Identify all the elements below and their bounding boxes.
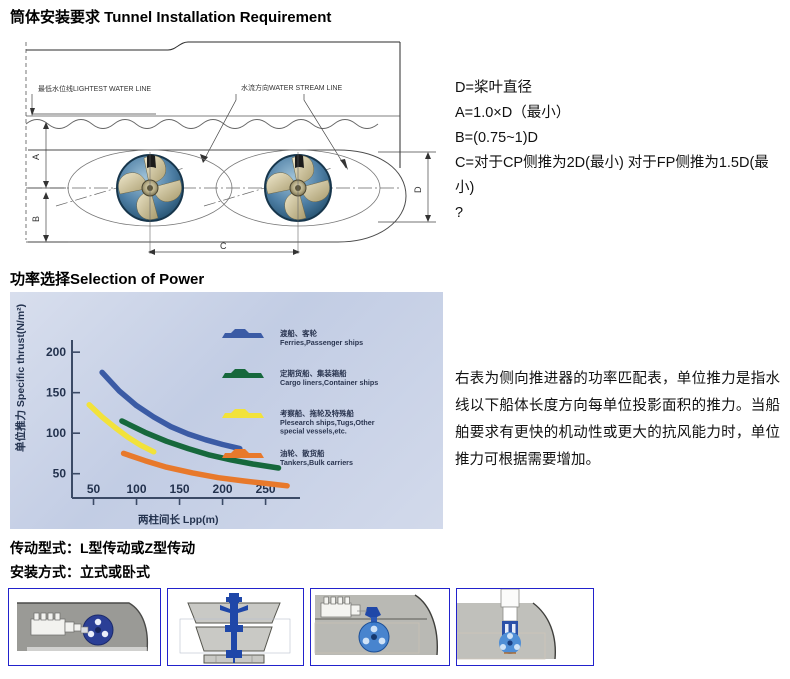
mount-type-heading: 安装方式：立式或卧式 <box>10 562 150 582</box>
legend-label-en: special vessels,etc. <box>280 427 347 436</box>
x-axis-title: 两柱间长 Lpp(m) <box>138 513 219 526</box>
spec-line-extra: ? <box>455 201 785 226</box>
lightest-water-line-label: 最低水位线LIGHTEST WATER LINE <box>38 84 151 93</box>
chart-legend-item: 定期货船、集装箱船Cargo liners,Container ships <box>222 369 378 387</box>
x-tick-label: 150 <box>170 482 190 496</box>
tunnel-section-title: 筒体安装要求 Tunnel Installation Requirement <box>10 6 331 27</box>
legend-label-en: Ferries,Passenger ships <box>280 338 363 347</box>
spec-line-d: D=桨叶直径 <box>455 76 785 101</box>
y-tick-label: 100 <box>46 426 66 440</box>
chart-legend-item: 渡船、客轮Ferries,Passenger ships <box>222 329 363 347</box>
thumbnail-vertical-l-drive-section <box>167 588 304 666</box>
legend-label-cn: 油轮、散货船 <box>280 449 325 458</box>
x-tick-label: 200 <box>213 482 233 496</box>
power-section-title: 功率选择Selection of Power <box>10 268 204 289</box>
thumbnail-horizontal-engine-z-drive <box>310 588 450 666</box>
legend-label-cn: 定期货船、集装箱船 <box>280 369 347 378</box>
dimension-b-label: B <box>31 216 41 222</box>
chart-curve <box>124 453 288 485</box>
chart-legend-item: 考察船、拖轮及特殊船Plesearch ships,Tugs,Otherspec… <box>222 409 375 436</box>
spec-line-a: A=1.0×D（最小） <box>455 101 785 126</box>
y-tick-label: 150 <box>46 386 66 400</box>
legend-label-cn: 考察船、拖轮及特殊船 <box>280 409 355 418</box>
chart-curve <box>102 372 240 448</box>
specific-thrust-chart: 5010015020050100150200250 渡船、客轮Ferries,P… <box>10 292 443 529</box>
thumbnail-vertical-mounted-unit <box>456 588 594 666</box>
dimension-a-label: A <box>31 154 41 160</box>
drive-type-heading: 传动型式：L型传动或Z型传动 <box>10 538 195 558</box>
power-description-paragraph: 右表为侧向推进器的功率匹配表，单位推力是指水线以下船体长度方向每单位投影面积的推… <box>455 366 780 474</box>
water-stream-line-label: 水流方向WATER STREAM LINE <box>241 83 342 92</box>
specs-list: D=桨叶直径 A=1.0×D（最小） B=(0.75~1)D C=对于CP侧推为… <box>455 76 785 226</box>
tunnel-installation-drawing: 最低水位线LIGHTEST WATER LINE 水流方向WATER STREA… <box>8 28 448 256</box>
legend-label-cn: 渡船、客轮 <box>280 329 318 338</box>
y-tick-label: 200 <box>46 345 66 359</box>
spec-line-b: B=(0.75~1)D <box>455 126 785 151</box>
x-tick-label: 100 <box>127 482 147 496</box>
y-axis-title: 单位推力 Specific thrust(N/m²) <box>14 304 27 452</box>
page-root: 筒体安装要求 Tunnel Installation Requirement <box>0 0 790 679</box>
dimension-c-label: C <box>220 241 227 251</box>
installation-thumbnails <box>8 588 783 668</box>
dimension-d-label: D <box>413 186 423 193</box>
legend-label-en: Cargo liners,Container ships <box>280 378 378 387</box>
spec-line-c: C=对于CP侧推为2D(最小) 对于FP侧推为1.5D(最小) <box>455 151 785 201</box>
x-tick-label: 50 <box>87 482 101 496</box>
legend-label-en: Tankers,Bulk carriers <box>280 458 353 467</box>
thumbnail-horizontal-engine-l-drive <box>8 588 161 666</box>
y-tick-label: 50 <box>53 467 67 481</box>
